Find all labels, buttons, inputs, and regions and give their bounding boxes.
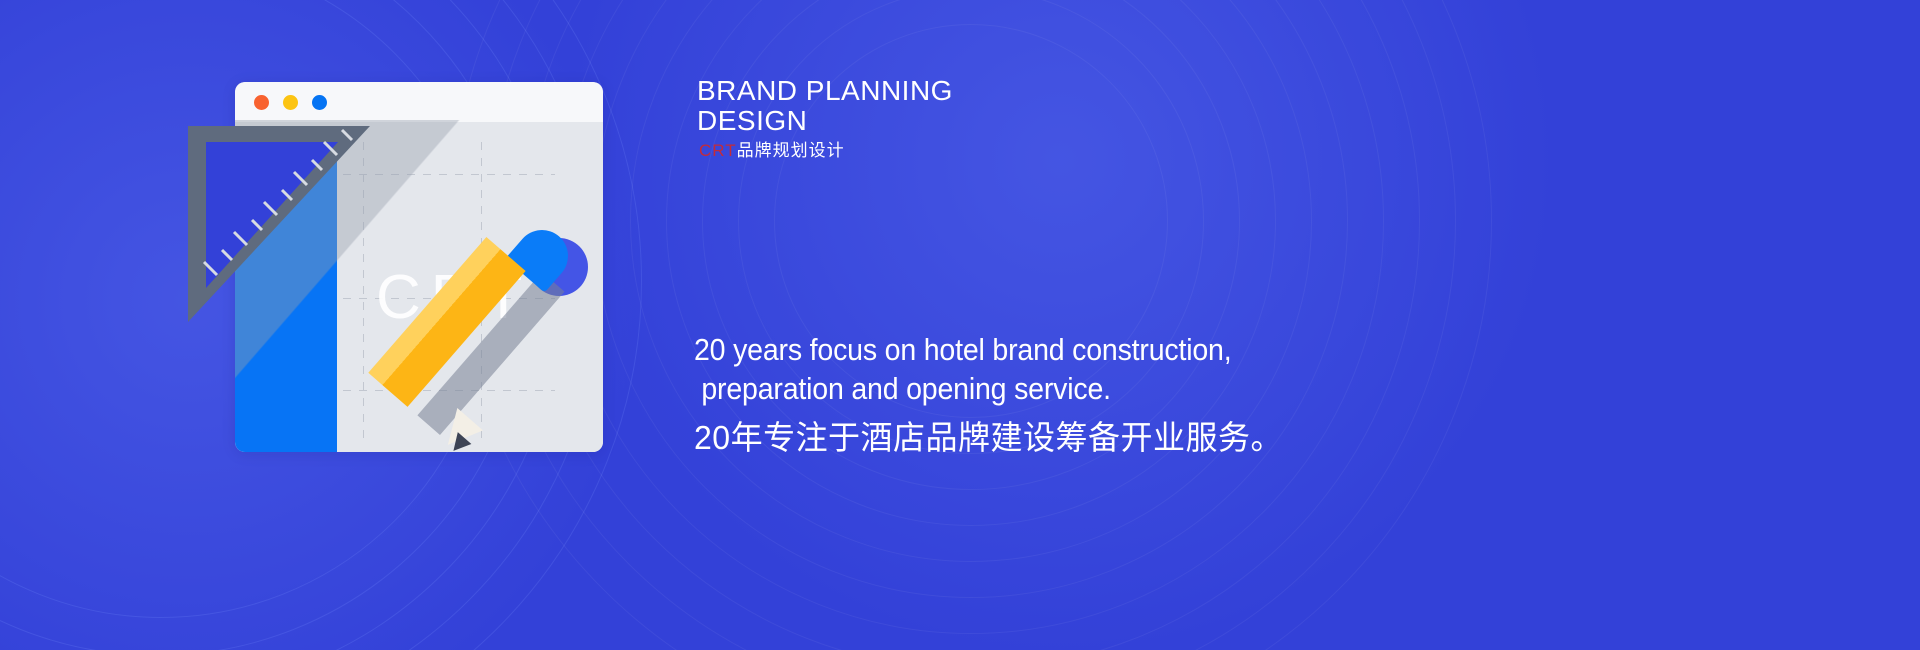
ruler-ticks-icon	[182, 122, 380, 322]
subtitle-block: CRT品牌规划设计	[699, 141, 845, 161]
subtitle-text: 品牌规划设计	[737, 141, 845, 160]
subtitle-brand: CRT	[699, 141, 737, 160]
headline-block: BRAND PLANNING DESIGN	[697, 76, 953, 136]
tagline-block: 20 years focus on hotel brand constructi…	[694, 330, 1414, 460]
brand-banner: CRT	[0, 0, 1920, 650]
pencil-icon	[474, 232, 594, 452]
maximize-dot-icon	[312, 95, 327, 110]
close-dot-icon	[254, 95, 269, 110]
tagline-english: 20 years focus on hotel brand constructi…	[694, 330, 1356, 408]
tagline-english-line-2: preparation and opening service.	[694, 369, 1356, 408]
minimize-dot-icon	[283, 95, 298, 110]
ruler-triangle-icon	[188, 126, 370, 322]
tagline-english-line-1: 20 years focus on hotel brand constructi…	[694, 332, 1231, 367]
hero-illustration: CRT	[188, 72, 688, 472]
headline-line-1: BRAND PLANNING	[697, 76, 953, 106]
browser-titlebar	[235, 82, 603, 122]
headline-line-2: DESIGN	[697, 106, 953, 136]
tagline-chinese: 20年专注于酒店品牌建设筹备开业服务。	[694, 416, 1392, 460]
